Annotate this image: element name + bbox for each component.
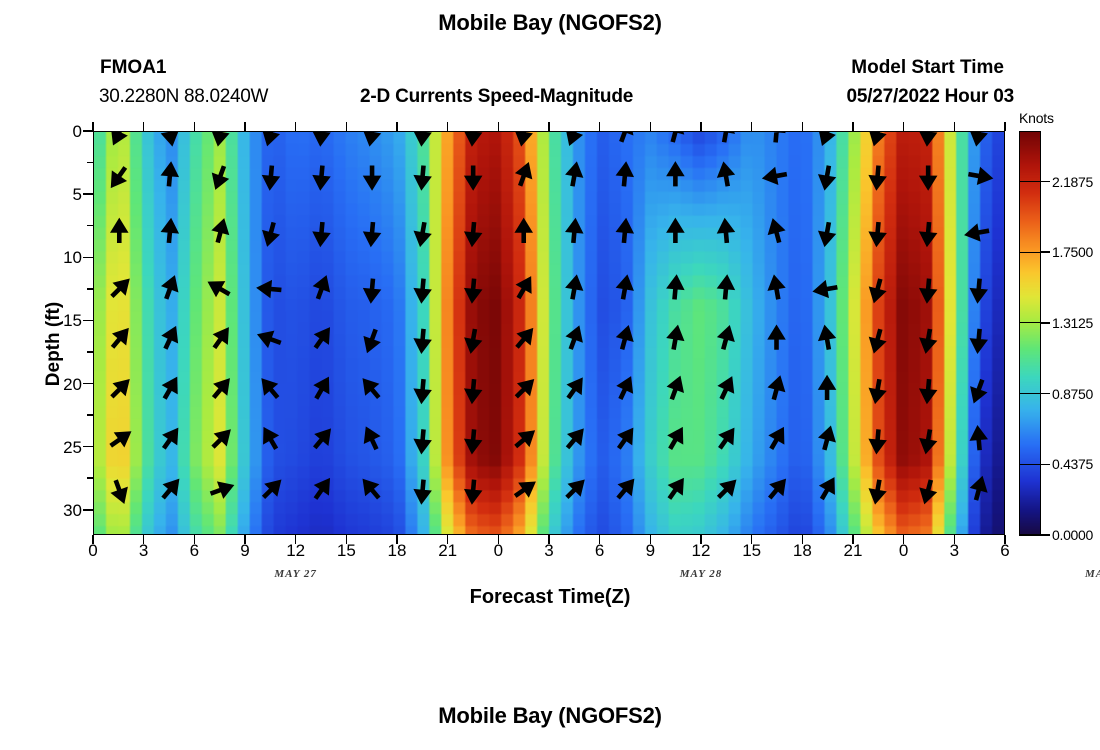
current-vector-arrow	[772, 379, 782, 399]
x-axis-top-tick-mark	[396, 122, 398, 131]
current-vector-arrow	[468, 480, 478, 501]
x-axis-top-tick-mark	[1004, 122, 1006, 131]
x-axis-top-tick-mark	[802, 122, 804, 131]
current-vector-arrow	[468, 379, 478, 400]
y-axis-tick-label: 5	[42, 185, 82, 205]
current-vector-arrow	[261, 334, 281, 344]
station-id-label: FMOA1	[100, 57, 167, 79]
x-axis-tick-label: 18	[782, 541, 822, 561]
current-vector-arrow	[367, 279, 377, 300]
colorbar-tick-label: 1.7500	[1052, 244, 1093, 260]
current-vector-arrow	[923, 279, 933, 300]
x-axis-tick-label: 0	[73, 541, 113, 561]
current-vector-arrow	[618, 482, 631, 498]
current-vector-arrow	[468, 329, 478, 350]
current-vector-arrow	[973, 329, 983, 350]
current-vector-arrow	[722, 380, 732, 399]
current-vector-arrow	[822, 379, 832, 400]
current-vector-arrow	[620, 329, 630, 349]
current-vector-arrow	[923, 480, 933, 500]
current-vector-arrow	[211, 284, 229, 295]
current-vector-arrow	[365, 382, 378, 398]
current-vector-arrow	[872, 222, 882, 243]
colorbar-title: Knots	[1019, 110, 1054, 126]
colorbar-tick-label: 0.8750	[1052, 386, 1093, 402]
y-axis-tick-label: 25	[42, 438, 82, 458]
current-vector-arrow	[721, 279, 731, 300]
x-axis-top-tick-mark	[92, 122, 94, 131]
current-vector-arrow	[417, 379, 427, 400]
y-axis-tick-mark	[83, 509, 93, 511]
colorbar-tick-label: 0.4375	[1052, 456, 1093, 472]
x-axis-tick-label: 9	[630, 541, 670, 561]
current-vector-arrow	[367, 132, 377, 142]
current-vector-arrow	[213, 432, 228, 447]
current-vector-arrow	[517, 331, 530, 347]
current-vector-arrow	[973, 380, 983, 400]
current-vector-arrow	[468, 166, 478, 187]
current-vector-arrow	[417, 166, 427, 187]
current-vector-arrow	[822, 329, 832, 350]
current-vector-arrow	[872, 166, 882, 187]
x-axis-label: Forecast Time(Z)	[0, 586, 1100, 609]
current-vector-arrow	[417, 132, 427, 142]
current-vector-arrow	[872, 429, 882, 450]
current-vector-arrow	[519, 222, 529, 243]
x-axis-tick-label: 9	[225, 541, 265, 561]
current-vector-arrow	[771, 329, 781, 350]
x-axis-tick-label: 0	[884, 541, 924, 561]
current-vector-arrow	[620, 222, 630, 243]
current-vector-arrow	[568, 381, 580, 398]
current-vector-arrow	[671, 329, 681, 350]
current-vector-arrow	[266, 166, 276, 187]
current-vector-arrow	[518, 280, 529, 298]
product-title-label: 2-D Currents Speed-Magnitude	[360, 86, 633, 108]
current-direction-vector-field	[94, 132, 1004, 534]
current-vector-arrow	[721, 222, 731, 243]
current-vector-arrow	[872, 132, 882, 142]
current-vector-arrow	[111, 434, 128, 446]
current-vector-arrow	[214, 331, 226, 348]
colorbar-tick-mark	[1041, 464, 1050, 466]
y-axis-tick-mark	[83, 193, 93, 195]
x-axis-tick-label: 3	[124, 541, 164, 561]
current-vector-arrow	[417, 329, 427, 350]
current-vector-arrow	[973, 429, 983, 450]
current-vector-arrow	[215, 166, 225, 186]
y-axis-minor-tick	[87, 162, 93, 164]
current-vector-arrow	[520, 166, 530, 186]
colorbar	[1019, 131, 1041, 535]
colorbar-tick-label: 2.1875	[1052, 174, 1093, 190]
current-vector-arrow	[923, 329, 933, 350]
current-vector-arrow	[872, 279, 882, 299]
heatmap-plot-area	[93, 131, 1005, 535]
x-axis-top-tick-mark	[498, 122, 500, 131]
x-axis-top-tick-mark	[548, 122, 550, 131]
x-axis-date-label: MAY 28	[656, 568, 746, 580]
y-axis-minor-tick	[87, 477, 93, 479]
current-vector-arrow	[315, 432, 328, 448]
current-vector-arrow	[770, 482, 783, 498]
current-vector-arrow	[165, 222, 175, 243]
bottom-title: Mobile Bay (NGOFS2)	[0, 703, 1100, 729]
current-vector-arrow	[771, 431, 782, 449]
current-vector-arrow	[720, 166, 730, 187]
current-vector-arrow	[114, 222, 124, 243]
current-vector-arrow	[166, 279, 176, 299]
x-axis-top-tick-mark	[194, 122, 196, 131]
current-vector-arrow	[872, 480, 882, 501]
current-vector-arrow	[316, 380, 327, 398]
current-vector-arrow	[974, 480, 984, 500]
current-vector-arrow	[165, 330, 175, 349]
colorbar-tick-mark	[1041, 534, 1050, 536]
y-axis-minor-tick	[87, 351, 93, 353]
y-axis-minor-tick	[87, 288, 93, 290]
current-vector-arrow	[772, 132, 782, 142]
current-vector-arrow	[721, 329, 731, 349]
current-vector-arrow	[216, 222, 226, 242]
current-vector-arrow	[164, 431, 176, 448]
current-vector-arrow	[367, 222, 377, 243]
current-vector-arrow	[316, 222, 326, 243]
x-axis-top-tick-mark	[903, 122, 905, 131]
x-axis-tick-label: 12	[681, 541, 721, 561]
current-vector-arrow	[923, 222, 933, 243]
current-vector-arrow	[113, 167, 125, 184]
colorbar-tick-mark	[1041, 181, 1050, 183]
current-vector-arrow	[973, 132, 983, 142]
current-vector-arrow	[265, 222, 275, 242]
colorbar-tick-mark	[1041, 251, 1050, 253]
x-axis-tick-label: 15	[326, 541, 366, 561]
current-vector-arrow	[621, 132, 631, 142]
current-vector-arrow	[516, 433, 532, 446]
current-vector-arrow	[567, 483, 582, 498]
current-vector-arrow	[923, 379, 933, 400]
current-vector-arrow	[417, 429, 427, 450]
current-vector-arrow	[568, 432, 581, 448]
x-axis-top-tick-mark	[143, 122, 145, 131]
x-axis-tick-label: 21	[833, 541, 873, 561]
current-vector-arrow	[365, 482, 378, 498]
y-axis-tick-mark	[83, 383, 93, 385]
current-vector-arrow	[165, 166, 175, 187]
current-vector-arrow	[620, 380, 630, 399]
y-axis-tick-mark	[83, 320, 93, 322]
x-axis-top-tick-mark	[346, 122, 348, 131]
current-vector-arrow	[570, 279, 580, 300]
current-vector-arrow	[823, 430, 833, 450]
current-vector-arrow	[316, 132, 326, 142]
current-vector-arrow	[771, 222, 781, 242]
x-axis-tick-label: 3	[529, 541, 569, 561]
current-vector-arrow	[721, 132, 731, 142]
current-vector-arrow	[771, 279, 781, 300]
current-vector-arrow	[968, 228, 989, 238]
x-axis-top-tick-mark	[751, 122, 753, 131]
current-vector-arrow	[923, 429, 933, 450]
current-vector-arrow	[670, 222, 680, 243]
current-vector-arrow	[265, 132, 275, 142]
current-vector-arrow	[569, 222, 579, 243]
current-vector-arrow	[570, 166, 580, 187]
colorbar-tick-label: 0.0000	[1052, 527, 1093, 543]
colorbar-inner-tick	[1019, 464, 1041, 465]
x-axis-top-tick-mark	[650, 122, 652, 131]
current-vector-arrow	[264, 382, 277, 398]
model-start-time-value: 05/27/2022 Hour 03	[846, 86, 1014, 108]
x-axis-tick-label: 21	[428, 541, 468, 561]
colorbar-inner-tick	[1019, 534, 1041, 535]
current-vector-arrow	[468, 132, 478, 142]
x-axis-top-tick-mark	[852, 122, 854, 131]
current-vector-arrow	[165, 380, 176, 398]
x-axis-tick-label: 18	[377, 541, 417, 561]
current-vector-arrow	[113, 331, 126, 347]
x-axis-top-tick-mark	[295, 122, 297, 131]
colorbar-inner-tick	[1019, 252, 1041, 253]
x-axis-date-label: MAY 27	[251, 568, 341, 580]
current-vector-arrow	[211, 484, 231, 494]
current-vector-arrow	[114, 132, 124, 141]
colorbar-inner-tick	[1019, 181, 1041, 182]
current-vector-arrow	[766, 171, 787, 181]
x-axis-top-tick-mark	[700, 122, 702, 131]
current-vector-arrow	[215, 132, 225, 142]
current-vector-arrow	[720, 431, 732, 448]
y-axis-tick-label: 0	[42, 122, 82, 142]
current-vector-arrow	[264, 483, 279, 498]
current-vector-arrow	[671, 132, 681, 142]
colorbar-tick-mark	[1041, 322, 1050, 324]
colorbar-tick-mark	[1041, 393, 1050, 395]
current-vector-arrow	[265, 431, 276, 449]
current-vector-arrow	[620, 279, 630, 300]
current-vector-arrow	[115, 480, 125, 500]
x-axis-date-label: MAY 29	[1061, 568, 1100, 580]
colorbar-inner-tick	[1019, 322, 1041, 323]
y-axis-minor-tick	[87, 225, 93, 227]
colorbar-gradient	[1020, 132, 1040, 534]
x-axis-tick-label: 6	[985, 541, 1025, 561]
current-vector-arrow	[367, 166, 377, 187]
x-axis-top-tick-mark	[447, 122, 449, 131]
current-vector-arrow	[468, 279, 478, 300]
current-vector-arrow	[515, 484, 532, 496]
current-vector-arrow	[620, 166, 630, 187]
current-vector-arrow	[923, 166, 933, 187]
current-vector-arrow	[872, 329, 882, 349]
current-vector-arrow	[671, 380, 681, 400]
y-axis-tick-label: 30	[42, 501, 82, 521]
current-vector-arrow	[316, 166, 326, 187]
current-vector-arrow	[570, 329, 580, 349]
current-vector-arrow	[670, 166, 680, 187]
current-vector-arrow	[112, 382, 127, 397]
colorbar-tick-label: 1.3125	[1052, 315, 1093, 331]
x-axis-tick-label: 12	[276, 541, 316, 561]
x-axis-tick-label: 6	[580, 541, 620, 561]
current-vector-arrow	[973, 279, 983, 300]
current-vector-arrow	[669, 481, 681, 498]
current-vector-arrow	[670, 431, 681, 449]
current-vector-arrow	[822, 481, 833, 499]
current-vector-arrow	[719, 483, 734, 498]
current-vector-arrow	[315, 331, 327, 348]
current-vector-arrow	[165, 132, 175, 142]
current-vector-arrow	[516, 382, 531, 397]
y-axis-tick-mark	[83, 257, 93, 259]
current-vector-arrow	[112, 282, 127, 297]
x-axis-tick-label: 3	[934, 541, 974, 561]
y-axis-minor-tick	[87, 414, 93, 416]
current-vector-arrow	[261, 284, 282, 294]
current-vector-arrow	[817, 284, 838, 294]
current-vector-arrow	[417, 279, 427, 300]
current-vector-arrow	[468, 222, 478, 243]
current-vector-arrow	[214, 382, 227, 398]
current-vector-arrow	[872, 379, 882, 400]
current-vector-arrow	[569, 132, 579, 142]
current-vector-arrow	[968, 171, 989, 181]
current-vector-arrow	[821, 132, 831, 142]
x-axis-tick-label: 15	[732, 541, 772, 561]
current-vector-arrow	[163, 482, 176, 498]
current-vector-arrow	[417, 222, 427, 243]
current-vector-arrow	[468, 429, 478, 450]
x-axis-top-tick-mark	[599, 122, 601, 131]
x-axis-top-tick-mark	[244, 122, 246, 131]
current-vector-arrow	[822, 166, 832, 187]
current-vector-arrow	[619, 431, 631, 448]
x-axis-tick-label: 6	[174, 541, 214, 561]
x-axis-tick-label: 0	[478, 541, 518, 561]
current-vector-arrow	[367, 430, 377, 449]
current-vector-arrow	[315, 481, 327, 498]
current-vector-arrow	[417, 480, 427, 501]
model-start-time-label: Model Start Time	[851, 57, 1004, 79]
current-vector-arrow	[923, 132, 933, 142]
current-vector-arrow	[518, 132, 528, 142]
page-title: Mobile Bay (NGOFS2)	[0, 10, 1100, 36]
y-axis-label: Depth (ft)	[43, 264, 65, 424]
current-vector-arrow	[366, 329, 376, 349]
x-axis-top-tick-mark	[954, 122, 956, 131]
current-vector-arrow	[670, 279, 680, 300]
station-coordinates-label: 30.2280N 88.0240W	[99, 86, 268, 108]
colorbar-inner-tick	[1019, 393, 1041, 394]
current-vector-arrow	[317, 279, 327, 299]
current-vector-arrow	[822, 222, 832, 243]
y-axis-tick-mark	[83, 446, 93, 448]
